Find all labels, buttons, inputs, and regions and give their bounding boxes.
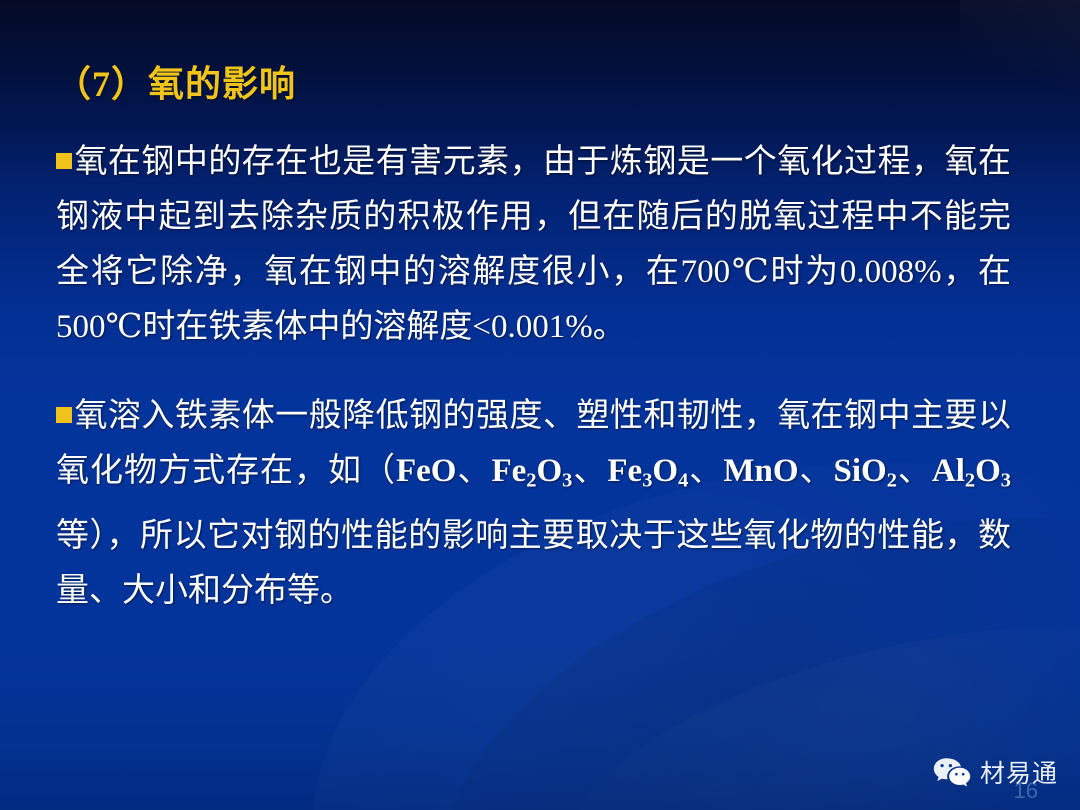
paragraph-1-text: 氧在钢中的存在也是有害元素，由于炼钢是一个氧化过程，氧在钢液中起到去除杂质的积极… <box>56 144 1011 345</box>
slide: （7）氧的影响 氧在钢中的存在也是有害元素，由于炼钢是一个氧化过程，氧在钢液中起… <box>0 0 1080 810</box>
slide-body: 氧在钢中的存在也是有害元素，由于炼钢是一个氧化过程，氧在钢液中起到去除杂质的积极… <box>56 135 1011 653</box>
paragraph-1: 氧在钢中的存在也是有害元素，由于炼钢是一个氧化过程，氧在钢液中起到去除杂质的积极… <box>56 135 1011 355</box>
watermark: 材易通 <box>933 754 1058 790</box>
decorative-corner-streak <box>960 0 1080 110</box>
watermark-text: 材易通 <box>980 754 1058 790</box>
square-bullet-icon <box>56 407 72 423</box>
square-bullet-icon <box>56 153 72 169</box>
wechat-icon <box>933 757 971 788</box>
paragraph-2: 氧溶入铁素体一般降低钢的强度、塑性和韧性，氧在钢中主要以氧化物方式存在，如（Fe… <box>56 389 1011 619</box>
slide-title: （7）氧的影响 <box>55 55 296 107</box>
paragraph-2-text: 氧溶入铁素体一般降低钢的强度、塑性和韧性，氧在钢中主要以氧化物方式存在，如（Fe… <box>56 398 1011 609</box>
